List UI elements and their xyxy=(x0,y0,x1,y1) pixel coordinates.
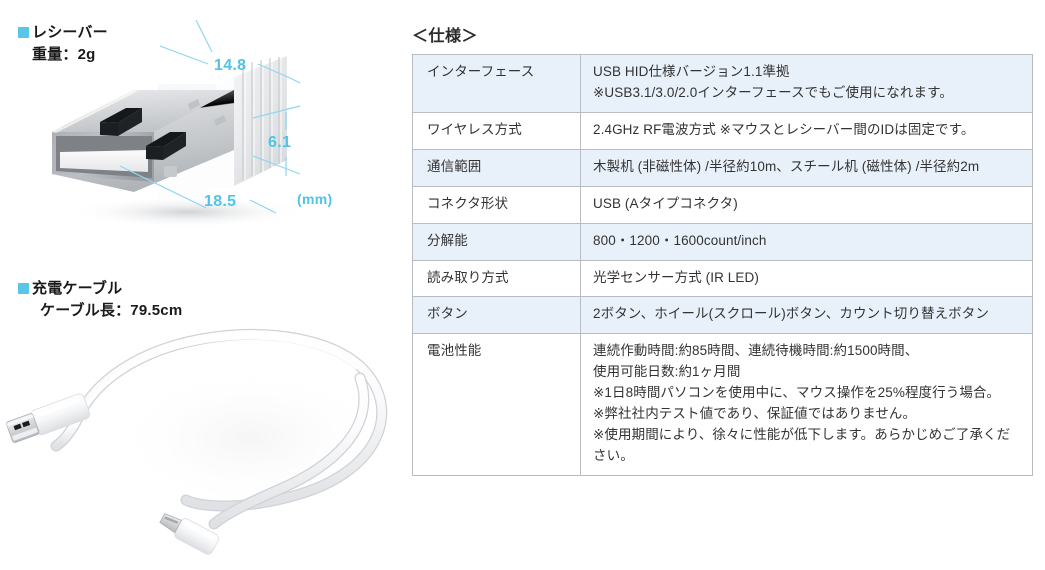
spec-value-line: 2.4GHz RF電波方式 ※マウスとレシーバー間のIDは固定です。 xyxy=(593,120,1022,141)
dimension-unit-label: (mm) xyxy=(297,191,332,207)
spec-value-line: 使用可能日数:約1ヶ月間 xyxy=(593,362,1022,383)
spec-value-cell: 光学センサー方式 (IR LED) xyxy=(581,260,1033,297)
spec-table-row: インターフェースUSB HID仕様バージョン1.1準拠※USB3.1/3.0/2… xyxy=(413,55,1033,113)
spec-value-line: ※1日8時間パソコンを使用中に、マウス操作を25%程度行う場合。 xyxy=(593,383,1022,404)
dimension-depth-label: 18.5 xyxy=(204,193,236,211)
spec-value-cell: 連続作動時間:約85時間、連続待機時間:約1500時間、使用可能日数:約1ヶ月間… xyxy=(581,334,1033,476)
spec-table: インターフェースUSB HID仕様バージョン1.1準拠※USB3.1/3.0/2… xyxy=(412,54,1033,476)
spec-table-row: コネクタ形状USB (Aタイプコネクタ) xyxy=(413,186,1033,223)
spec-label-cell: ワイヤレス方式 xyxy=(413,112,581,149)
product-spec-page: レシーバー 重量：2g xyxy=(0,0,1045,570)
spec-heading: ＜仕様＞ xyxy=(412,22,478,46)
spec-table-row: ワイヤレス方式2.4GHz RF電波方式 ※マウスとレシーバー間のIDは固定です… xyxy=(413,112,1033,149)
spec-table-row: 電池性能連続作動時間:約85時間、連続待機時間:約1500時間、使用可能日数:約… xyxy=(413,334,1033,476)
dimension-leader-lines xyxy=(0,0,400,250)
spec-table-row: ボタン2ボタン、ホイール(スクロール)ボタン、カウント切り替えボタン xyxy=(413,297,1033,334)
spec-label-cell: 分解能 xyxy=(413,223,581,260)
spec-value-cell: 2.4GHz RF電波方式 ※マウスとレシーバー間のIDは固定です。 xyxy=(581,112,1033,149)
spec-table-row: 分解能800・1200・1600count/inch xyxy=(413,223,1033,260)
bullet-square-icon xyxy=(18,283,29,294)
spec-value-line: 木製机 (非磁性体) /半径約10m、スチール机 (磁性体) /半径約2m xyxy=(593,157,1022,178)
spec-value-line: USB (Aタイプコネクタ) xyxy=(593,194,1022,215)
spec-table-row: 通信範囲木製机 (非磁性体) /半径約10m、スチール机 (磁性体) /半径約2… xyxy=(413,149,1033,186)
spec-label-cell: ボタン xyxy=(413,297,581,334)
cable-photo xyxy=(0,318,400,568)
spec-label-cell: コネクタ形状 xyxy=(413,186,581,223)
spec-value-line: 2ボタン、ホイール(スクロール)ボタン、カウント切り替えボタン xyxy=(593,304,1022,325)
spec-value-line: 800・1200・1600count/inch xyxy=(593,231,1022,252)
spec-label-cell: 電池性能 xyxy=(413,334,581,476)
spec-table-row: 読み取り方式光学センサー方式 (IR LED) xyxy=(413,260,1033,297)
spec-value-line: USB HID仕様バージョン1.1準拠 xyxy=(593,62,1022,83)
spec-label-cell: 読み取り方式 xyxy=(413,260,581,297)
spec-value-line: ※使用期間により、徐々に性能が低下します。あらかじめご了承ください。 xyxy=(593,425,1022,467)
spec-value-line: 連続作動時間:約85時間、連続待機時間:約1500時間、 xyxy=(593,341,1022,362)
spec-value-line: ※USB3.1/3.0/2.0インターフェースでもご使用になれます。 xyxy=(593,83,1022,104)
spec-label-cell: 通信範囲 xyxy=(413,149,581,186)
spec-value-cell: 2ボタン、ホイール(スクロール)ボタン、カウント切り替えボタン xyxy=(581,297,1033,334)
spec-value-line: ※弊社社内テスト値であり、保証値ではありません。 xyxy=(593,404,1022,425)
spec-value-cell: USB HID仕様バージョン1.1準拠※USB3.1/3.0/2.0インターフェ… xyxy=(581,55,1033,113)
cable-caption: 充電ケーブル ケーブル長：79.5cm xyxy=(18,278,182,322)
spec-value-line: 光学センサー方式 (IR LED) xyxy=(593,268,1022,289)
spec-value-cell: 木製机 (非磁性体) /半径約10m、スチール机 (磁性体) /半径約2m xyxy=(581,149,1033,186)
dimension-height-label: 6.1 xyxy=(268,134,291,152)
spec-table-body: インターフェースUSB HID仕様バージョン1.1準拠※USB3.1/3.0/2… xyxy=(413,55,1033,476)
dimension-width-label: 14.8 xyxy=(214,57,246,75)
cable-caption-title: 充電ケーブル xyxy=(32,280,122,297)
spec-value-cell: 800・1200・1600count/inch xyxy=(581,223,1033,260)
spec-label-cell: インターフェース xyxy=(413,55,581,113)
spec-value-cell: USB (Aタイプコネクタ) xyxy=(581,186,1033,223)
